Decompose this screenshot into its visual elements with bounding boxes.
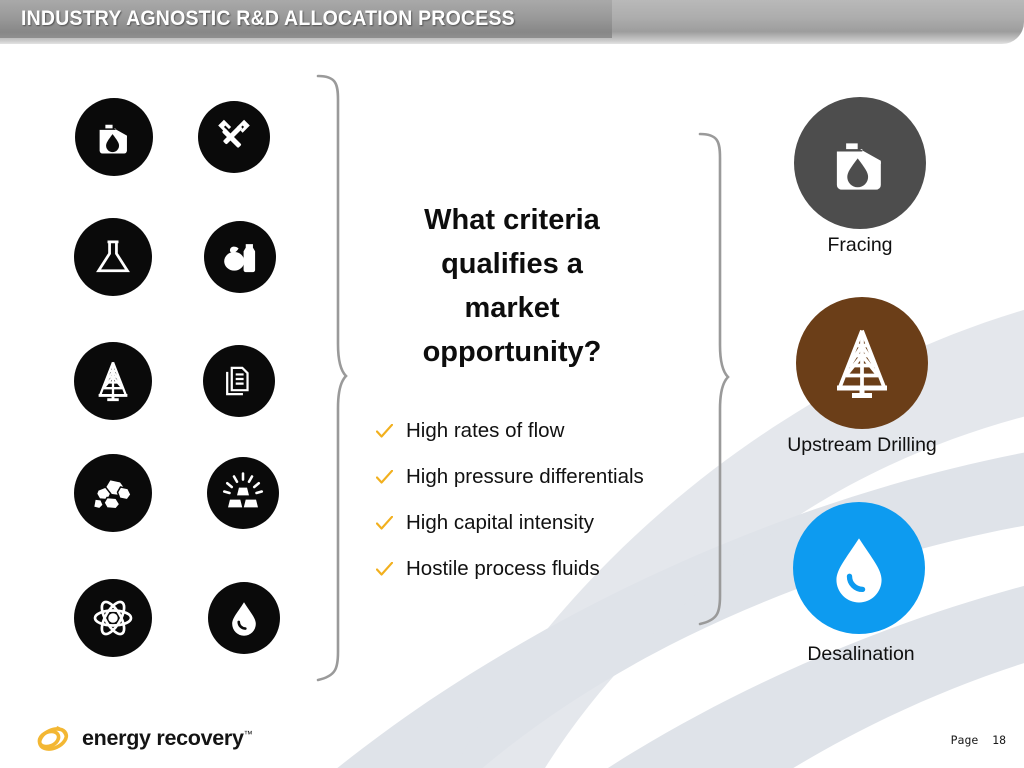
water-droplet-icon	[208, 582, 280, 654]
trademark-symbol: ™	[244, 728, 253, 738]
segment-circle-fracing	[794, 97, 926, 229]
criteria-list: High rates of flow High pressure differe…	[376, 408, 696, 592]
check-icon	[376, 562, 406, 577]
page-title: INDUSTRY AGNOSTIC R&D ALLOCATION PROCESS	[21, 7, 515, 31]
energy-recovery-logo-mark	[33, 722, 73, 754]
list-item: High capital intensity	[376, 500, 696, 546]
list-item-label: High capital intensity	[406, 511, 594, 535]
food-beverage-icon	[204, 221, 276, 293]
list-item-label: High pressure differentials	[406, 465, 644, 489]
segment-label-desalination: Desalination	[761, 643, 961, 666]
segment-circle-desalination	[793, 502, 925, 634]
logo-wordmark: energy recovery™	[82, 726, 252, 751]
check-icon	[376, 424, 406, 439]
list-item-label: Hostile process fluids	[406, 557, 600, 581]
left-curly-brace	[296, 72, 358, 684]
slide-header: INDUSTRY AGNOSTIC R&D ALLOCATION PROCESS	[0, 0, 1024, 44]
segment-label-upstream-drilling: Upstream Drilling	[762, 434, 962, 457]
list-item: High pressure differentials	[376, 454, 696, 500]
slide-root: INDUSTRY AGNOSTIC R&D ALLOCATION PROCESS	[0, 0, 1024, 768]
center-heading: What criteria qualifies a market opportu…	[392, 198, 632, 374]
list-item-label: High rates of flow	[406, 419, 564, 443]
check-icon	[376, 470, 406, 485]
company-logo: energy recovery™	[33, 722, 252, 754]
documents-icon	[203, 345, 275, 417]
logo-wordmark-text: energy recovery	[82, 726, 244, 750]
segment-label-fracing: Fracing	[760, 234, 960, 257]
gold-bars-icon	[207, 457, 279, 529]
page-number: Page 18	[951, 733, 1006, 747]
crossed-hammers-icon	[198, 101, 270, 173]
list-item: High rates of flow	[376, 408, 696, 454]
coal-rocks-icon	[74, 454, 152, 532]
oil-canister-icon	[75, 98, 153, 176]
atom-icon	[74, 579, 152, 657]
oil-derrick-icon	[74, 342, 152, 420]
lab-flask-icon	[74, 218, 152, 296]
check-icon	[376, 516, 406, 531]
segment-circle-upstream-drilling	[796, 297, 928, 429]
list-item: Hostile process fluids	[376, 546, 696, 592]
